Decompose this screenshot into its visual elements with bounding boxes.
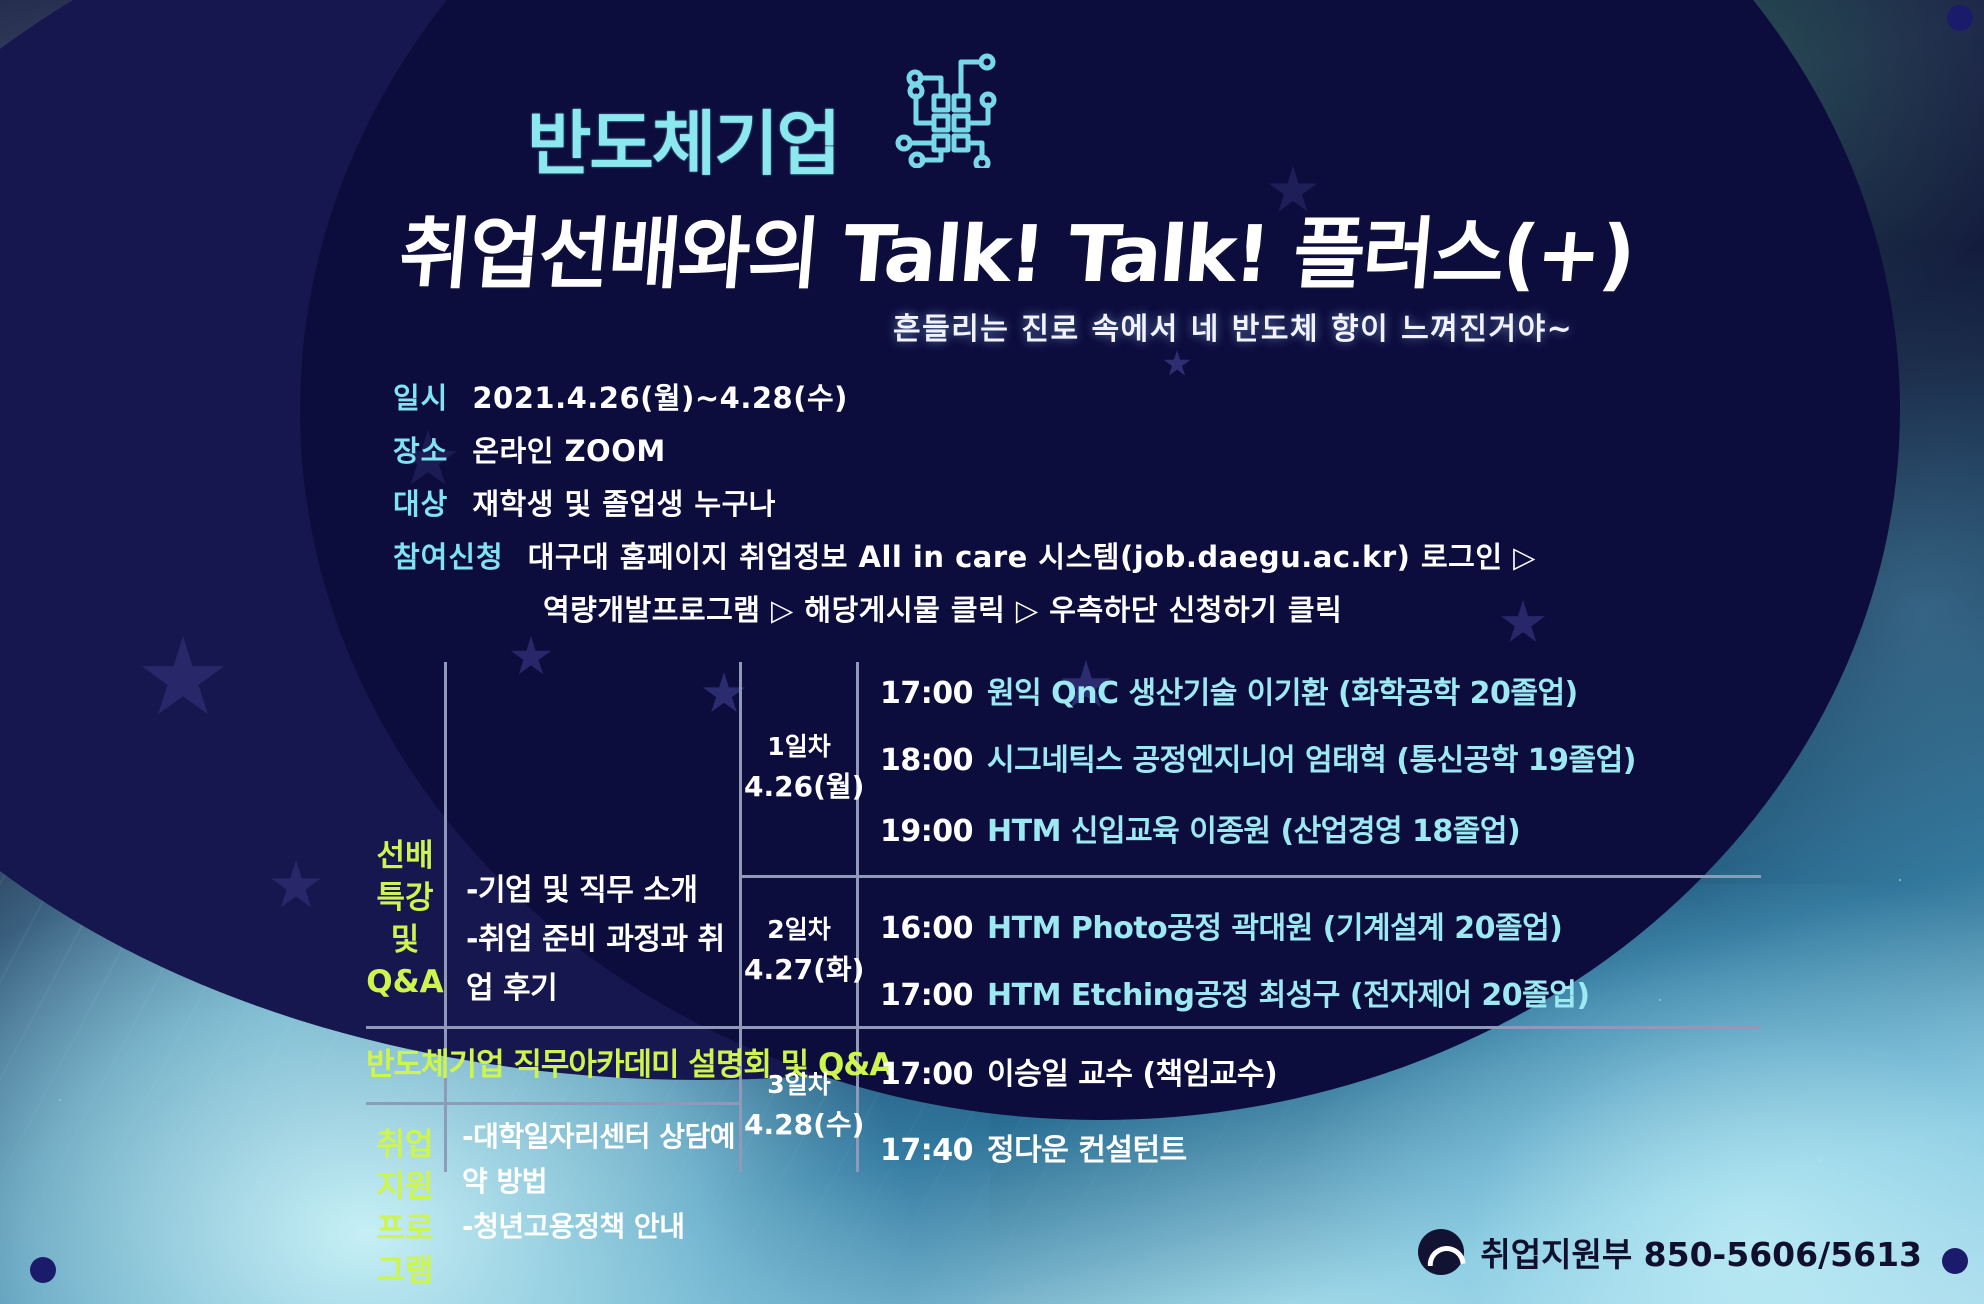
table-description-support-line1: -대학일자리센터 상담예약 방법 (462, 1114, 742, 1204)
session-day2-1-text: HTM Photo공정 곽대원 (기계설계 20졸업) (987, 911, 1562, 946)
session-day1-2: 18:00시그네틱스 공정엔지니어 엄태혁 (통신공학 19졸업) (880, 735, 1636, 779)
eyebrow-title: 반도체기업 (527, 88, 839, 189)
corner-dot-top-right (1947, 5, 1973, 31)
table-description-lecture-line2: -취업 준비 과정과 취업 후기 (466, 915, 726, 1013)
session-day2-1: 16:00HTM Photo공정 곽대원 (기계설계 20졸업) (880, 903, 1562, 947)
table-category-lecture-line3: Q&A (366, 961, 444, 1003)
session-day3-1-time: 17:00 (880, 1057, 973, 1092)
info-row-date: 일시 2021.4.26(월)~4.28(수) (393, 372, 1693, 425)
table-day-2-label: 2일차 (744, 910, 854, 950)
poster-canvas: 반도체기업 (0, 0, 1984, 1304)
table-day-3: 3일차 4.28(수) (744, 1065, 854, 1145)
info-value-apply[interactable]: 대구대 홈페이지 취업정보 All in care 시스템(job.daegu.… (528, 531, 1536, 584)
table-hrule-subrow (366, 1102, 739, 1105)
session-day3-2: 17:40정다운 컨설턴트 (880, 1125, 1187, 1169)
phone-icon (1418, 1229, 1464, 1275)
table-category-support: 취업지원 프로그램 (366, 1124, 444, 1292)
table-hrule-section (366, 1026, 1761, 1029)
session-day3-1-text: 이승일 교수 (책임교수) (987, 1057, 1277, 1092)
table-day-1-date: 4.26(월) (744, 767, 854, 807)
info-row-place: 장소 온라인 ZOOM (393, 425, 1693, 478)
circuit-chip-icon (890, 48, 1012, 168)
schedule-table: 선배특강 및 Q&A 반도체기업 직무아카데미 설명회 및 Q&A 취업지원 프… (366, 640, 1766, 1172)
session-day3-2-text: 정다운 컨설턴트 (987, 1133, 1187, 1168)
event-info-block: 일시 2021.4.26(월)~4.28(수) 장소 온라인 ZOOM 대상 재… (393, 372, 1693, 637)
table-hrule-day1-day2 (739, 875, 1761, 878)
table-vrule-3 (856, 662, 859, 1172)
table-category-lecture: 선배특강 및 Q&A (366, 835, 444, 1003)
info-value-date: 2021.4.26(월)~4.28(수) (472, 372, 848, 425)
session-day1-1-text: 원익 QnC 생산기술 이기환 (화학공학 20졸업) (987, 676, 1578, 711)
info-value-apply-continued: 역량개발프로그램 ▷ 해당게시물 클릭 ▷ 우측하단 신청하기 클릭 (543, 584, 1342, 637)
info-value-audience: 재학생 및 졸업생 누구나 (472, 478, 776, 531)
session-day3-1: 17:00이승일 교수 (책임교수) (880, 1049, 1277, 1093)
table-day-1: 1일차 4.26(월) (744, 727, 854, 807)
info-row-apply-continued: 역량개발프로그램 ▷ 해당게시물 클릭 ▷ 우측하단 신청하기 클릭 (393, 584, 1693, 637)
session-day3-2-time: 17:40 (880, 1133, 973, 1168)
corner-dot-bottom-right (1942, 1248, 1968, 1274)
info-value-place: 온라인 ZOOM (472, 425, 665, 478)
table-category-support-line2: 프로그램 (366, 1208, 444, 1292)
table-vrule-2 (739, 662, 742, 1172)
table-description-lecture-line1: -기업 및 직무 소개 (466, 866, 726, 915)
session-day1-3-time: 19:00 (880, 814, 973, 849)
table-day-1-label: 1일차 (744, 727, 854, 767)
table-category-academy: 반도체기업 직무아카데미 설명회 및 Q&A (366, 1044, 739, 1086)
footer-contact-text: 취업지원부 850-5606/5613 (1480, 1228, 1922, 1276)
session-day1-2-text: 시그네틱스 공정엔지니어 엄태혁 (통신공학 19졸업) (987, 743, 1636, 778)
info-label-date: 일시 (393, 372, 448, 425)
session-day1-1: 17:00원익 QnC 생산기술 이기환 (화학공학 20졸업) (880, 668, 1578, 712)
session-day2-1-time: 16:00 (880, 911, 973, 946)
table-vrule-1 (444, 662, 447, 1172)
page-title: 취업선배와의 Talk! Talk! 플러스(+) (395, 192, 1639, 304)
table-description-support-line2: -청년고용정책 안내 (462, 1204, 742, 1249)
info-label-apply: 참여신청 (393, 531, 504, 584)
session-day2-2: 17:00HTM Etching공정 최성구 (전자제어 20졸업) (880, 970, 1590, 1014)
table-description-support: -대학일자리센터 상담예약 방법 -청년고용정책 안내 (462, 1114, 742, 1249)
table-category-support-line1: 취업지원 (366, 1124, 444, 1208)
info-label-place: 장소 (393, 425, 448, 478)
info-row-apply: 참여신청 대구대 홈페이지 취업정보 All in care 시스템(job.d… (393, 531, 1693, 584)
subtitle-tagline: 흔들리는 진로 속에서 네 반도체 향이 느껴진거야~ (893, 304, 1573, 348)
table-category-lecture-line2: 및 (366, 919, 444, 961)
table-day-3-date: 4.28(수) (744, 1105, 854, 1145)
session-day2-2-text: HTM Etching공정 최성구 (전자제어 20졸업) (987, 978, 1590, 1013)
table-category-lecture-line1: 선배특강 (366, 835, 444, 919)
info-label-audience: 대상 (393, 478, 448, 531)
table-description-lecture: -기업 및 직무 소개 -취업 준비 과정과 취업 후기 (466, 866, 726, 1013)
corner-dot-bottom-left (30, 1257, 56, 1283)
info-row-audience: 대상 재학생 및 졸업생 누구나 (393, 478, 1693, 531)
footer-contact: 취업지원부 850-5606/5613 (1418, 1228, 1922, 1276)
session-day1-3-text: HTM 신입교육 이종원 (산업경영 18졸업) (987, 814, 1520, 849)
table-day-2-date: 4.27(화) (744, 950, 854, 990)
session-day2-2-time: 17:00 (880, 978, 973, 1013)
session-day1-2-time: 18:00 (880, 743, 973, 778)
session-day1-1-time: 17:00 (880, 676, 973, 711)
table-day-3-label: 3일차 (744, 1065, 854, 1105)
table-day-2: 2일차 4.27(화) (744, 910, 854, 990)
session-day1-3: 19:00HTM 신입교육 이종원 (산업경영 18졸업) (880, 806, 1520, 850)
